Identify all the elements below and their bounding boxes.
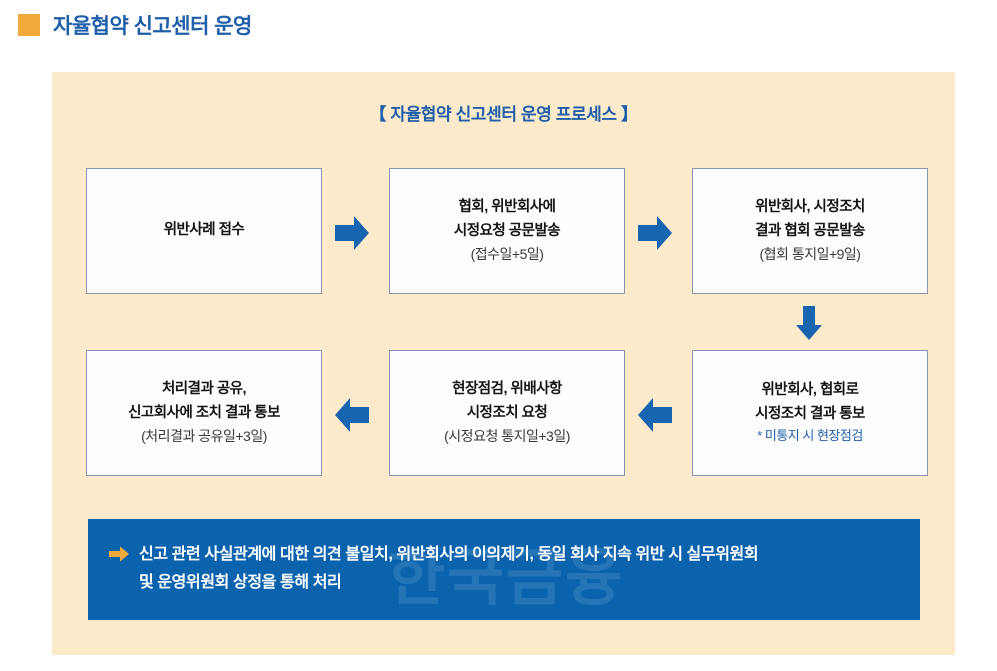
process-box-line: 결과 협회 공문발송 xyxy=(755,220,865,243)
arrow-left-icon xyxy=(333,394,371,436)
page-heading: 자율협약 신고센터 운영 xyxy=(18,10,252,40)
process-box-duration: (처리결과 공유일+3일) xyxy=(141,425,267,448)
process-box-line: 협회, 위반회사에 xyxy=(459,196,556,219)
heading-bullet-square-icon xyxy=(18,14,40,36)
escalation-banner: 한국금융 신고 관련 사실관계에 대한 의견 불일치, 위반회사의 이의제기, … xyxy=(88,519,920,620)
arrow-right-icon xyxy=(333,212,371,254)
process-box-duration: (협회 통지일+9일) xyxy=(760,243,861,266)
process-box-line: 신고회사에 조치 결과 통보 xyxy=(128,402,280,425)
process-box-line: 처리결과 공유, xyxy=(162,378,246,401)
arrow-right-icon xyxy=(108,545,130,563)
process-box-share-result-notify-reporter: 처리결과 공유, 신고회사에 조치 결과 통보 (처리결과 공유일+3일) xyxy=(86,350,322,476)
diagram-title: 【 자율협약 신고센터 운영 프로세스 】 xyxy=(52,100,955,125)
escalation-banner-text: 신고 관련 사실관계에 대한 의견 불일치, 위반회사의 이의제기, 동일 회사… xyxy=(139,541,758,596)
arrow-down-icon xyxy=(794,304,824,342)
arrow-right-icon xyxy=(636,212,674,254)
escalation-banner-line1: 신고 관련 사실관계에 대한 의견 불일치, 위반회사의 이의제기, 동일 회사… xyxy=(139,546,758,563)
process-diagram-panel: 【 자율협약 신고센터 운영 프로세스 】 위반사례 접수 협회, 위반회사에 … xyxy=(52,72,955,655)
process-box-line: 시정조치 요청 xyxy=(467,402,548,425)
process-box-notify-correction-result: 위반회사, 협회로 시정조치 결과 통보 * 미통지 시 현장점검 xyxy=(692,350,928,476)
page-title: 자율협약 신고센터 운영 xyxy=(53,10,252,40)
process-box-line: 현장점검, 위배사항 xyxy=(452,378,562,401)
escalation-banner-line2: 및 운영위원회 상정을 통해 처리 xyxy=(139,569,758,597)
process-box-note: * 미통지 시 현장점검 xyxy=(757,426,863,447)
process-box-line: 시정요청 공문발송 xyxy=(454,220,560,243)
process-box-line: 위반회사, 협회로 xyxy=(762,379,859,402)
process-box-line: 위반회사, 시정조치 xyxy=(755,196,865,219)
process-box-result-dispatch-to-association: 위반회사, 시정조치 결과 협회 공문발송 (협회 통지일+9일) xyxy=(692,168,928,294)
process-box-duration: (시정요청 통지일+3일) xyxy=(444,425,570,448)
process-box-correction-request-dispatch: 협회, 위반회사에 시정요청 공문발송 (접수일+5일) xyxy=(389,168,625,294)
arrow-left-icon xyxy=(636,394,674,436)
process-box-line: 시정조치 결과 통보 xyxy=(755,403,865,426)
process-box-violation-intake: 위반사례 접수 xyxy=(86,168,322,294)
process-box-line: 위반사례 접수 xyxy=(164,219,245,242)
process-box-duration: (접수일+5일) xyxy=(471,243,544,266)
process-box-onsite-inspection-correction-request: 현장점검, 위배사항 시정조치 요청 (시정요청 통지일+3일) xyxy=(389,350,625,476)
